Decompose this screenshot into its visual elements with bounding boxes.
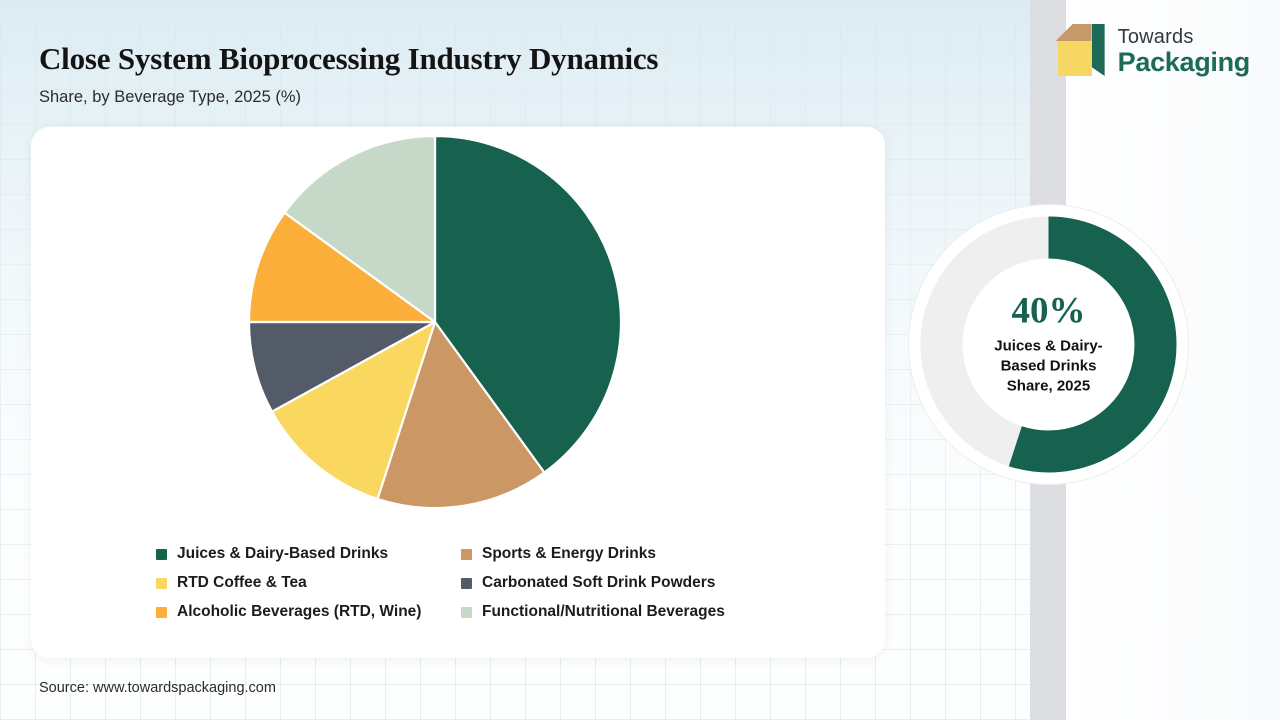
- legend-item-sports-energy-drinks[interactable]: Sports & Energy Drinks: [461, 545, 816, 563]
- donut-value: 40%: [961, 292, 1136, 331]
- legend-label: RTD Coffee & Tea: [177, 574, 307, 592]
- brand-logo[interactable]: Towards Packaging: [1054, 22, 1250, 80]
- donut-caption: Juices & Dairy- Based Drinks Share, 2025: [961, 337, 1136, 397]
- legend-swatch-icon: [461, 607, 472, 618]
- legend-swatch-icon: [156, 549, 167, 560]
- legend-item-functional-nutritional-beverages[interactable]: Functional/Nutritional Beverages: [461, 603, 816, 621]
- legend-item-carbonated-soft-drink-powders[interactable]: Carbonated Soft Drink Powders: [461, 574, 816, 592]
- donut-center-label: 40% Juices & Dairy- Based Drinks Share, …: [961, 292, 1136, 397]
- brand-logo-text: Towards Packaging: [1118, 27, 1250, 76]
- chart-legend: Juices & Dairy-Based Drinks Sports & Ene…: [156, 545, 816, 621]
- page-title: Close System Bioprocessing Industry Dyna…: [39, 41, 658, 77]
- legend-swatch-icon: [461, 549, 472, 560]
- legend-item-rtd-coffee-tea[interactable]: RTD Coffee & Tea: [156, 574, 461, 592]
- legend-label: Sports & Energy Drinks: [482, 545, 656, 563]
- legend-item-alcoholic-beverages[interactable]: Alcoholic Beverages (RTD, Wine): [156, 603, 461, 621]
- package-box-icon: [1054, 22, 1108, 80]
- chart-card: Juices & Dairy-Based Drinks Sports & Ene…: [31, 127, 885, 658]
- donut-caption-line-3: Share, 2025: [961, 377, 1136, 397]
- donut-caption-line-2: Based Drinks: [961, 357, 1136, 377]
- donut-caption-line-1: Juices & Dairy-: [961, 337, 1136, 357]
- legend-swatch-icon: [461, 578, 472, 589]
- chart-page: Close System Bioprocessing Industry Dyna…: [0, 0, 1280, 720]
- brand-name-top: Towards: [1118, 27, 1250, 47]
- legend-item-juices-dairy-based-drinks[interactable]: Juices & Dairy-Based Drinks: [156, 545, 461, 563]
- legend-label: Alcoholic Beverages (RTD, Wine): [177, 603, 421, 621]
- source-note: Source: www.towardspackaging.com: [39, 680, 276, 696]
- brand-name-bottom: Packaging: [1118, 49, 1250, 76]
- pie-slice-group: [249, 136, 621, 508]
- legend-swatch-icon: [156, 578, 167, 589]
- legend-label: Juices & Dairy-Based Drinks: [177, 545, 388, 563]
- legend-label: Carbonated Soft Drink Powders: [482, 574, 715, 592]
- pie-chart-svg: [248, 132, 668, 527]
- legend-swatch-icon: [156, 607, 167, 618]
- page-subtitle: Share, by Beverage Type, 2025 (%): [39, 88, 301, 107]
- highlight-donut: 40% Juices & Dairy- Based Drinks Share, …: [908, 204, 1189, 485]
- pie-chart: [31, 132, 885, 532]
- legend-label: Functional/Nutritional Beverages: [482, 603, 725, 621]
